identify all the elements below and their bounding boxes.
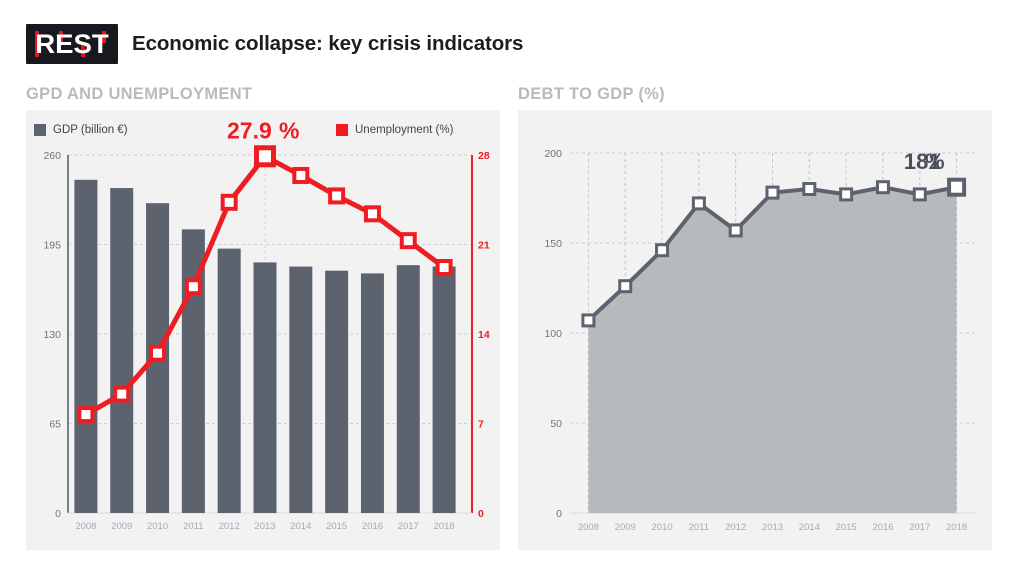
legend-item-unemployment: Unemployment (%) <box>336 124 453 136</box>
legend-swatch-icon <box>34 124 46 136</box>
legend-label-gdp: GDP (billion €) <box>53 124 128 136</box>
right-chart-panel <box>518 110 992 550</box>
header: REST Economic collapse: key crisis indic… <box>26 24 523 64</box>
right-chart-title: DEBT TO GDP (%) <box>518 85 665 104</box>
infographic-page: REST Economic collapse: key crisis indic… <box>0 0 1024 576</box>
legend-swatch-icon <box>336 124 348 136</box>
left-chart-title: GPD AND UNEMPLOYMENT <box>26 85 252 104</box>
legend-item-gdp: GDP (billion €) <box>34 124 128 136</box>
page-title: Economic collapse: key crisis indicators <box>132 32 523 56</box>
legend-label-unemployment: Unemployment (%) <box>355 124 453 136</box>
rest-logo: REST <box>26 24 118 64</box>
logo-text: REST <box>35 31 108 58</box>
logo-inner: REST <box>26 24 118 64</box>
left-chart-panel <box>26 110 500 550</box>
